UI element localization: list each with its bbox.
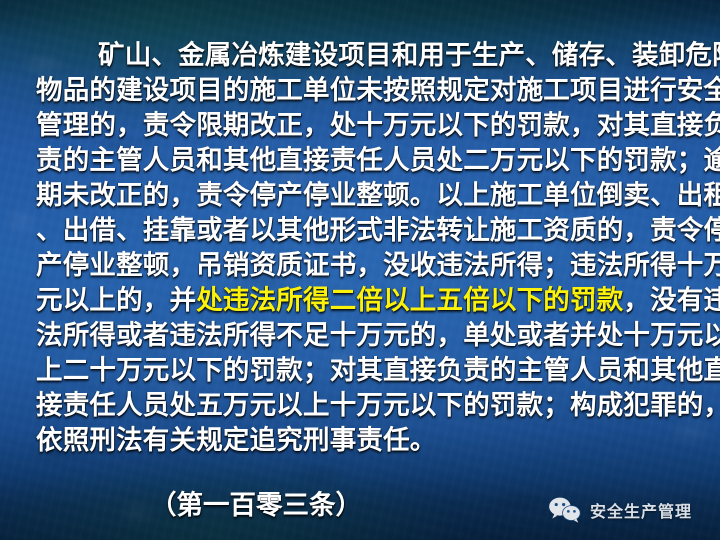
text-run: 接责任人员处五万元以上十万元以下的罚款；构成犯罪的，: [36, 390, 720, 421]
wechat-icon: [548, 496, 582, 524]
text-run: 法所得或者违法所得不足十万元的，单处或者并处十万元以: [36, 320, 720, 351]
text-line: 元以上的，并处违法所得二倍以上五倍以下的罚款，没有违: [36, 283, 684, 318]
text-line: 法所得或者违法所得不足十万元的，单处或者并处十万元以: [36, 318, 684, 353]
text-line: 、出借、挂靠或者以其他形式非法转让施工资质的，责令停: [36, 213, 684, 248]
text-line: 接责任人员处五万元以上十万元以下的罚款；构成犯罪的，: [36, 388, 684, 423]
text-run: 管理的，责令限期改正，处十万元以下的罚款，对其直接负: [36, 110, 720, 141]
text-line: 依照刑法有关规定追究刑事责任。: [36, 423, 684, 458]
text-run: ，没有违: [623, 285, 720, 316]
text-run: 物品的建设项目的施工单位未按照规定对施工项目进行安全: [36, 75, 720, 106]
body-text-block: 矿山、金属冶炼建设项目和用于生产、储存、装卸危险物品的建设项目的施工单位未按照规…: [36, 38, 684, 458]
text-run: 责的主管人员和其他直接责任人员处二万元以下的罚款；逾: [36, 145, 720, 176]
text-line: 管理的，责令限期改正，处十万元以下的罚款，对其直接负: [36, 108, 684, 143]
text-run: 、出借、挂靠或者以其他形式非法转让施工资质的，责令停: [36, 215, 720, 246]
text-run: 元以上的，并: [36, 285, 196, 316]
text-run: 矿山、金属冶炼建设项目和用于生产、储存、装卸危险: [98, 40, 720, 71]
watermark-label: 安全生产管理: [590, 498, 692, 522]
highlighted-phrase: 处违法所得二倍以上五倍以下的罚款: [196, 285, 623, 316]
article-citation: （第一百零三条）: [150, 483, 362, 522]
text-line: 上二十万元以下的罚款；对其直接负责的主管人员和其他直: [36, 353, 684, 388]
text-line: 责的主管人员和其他直接责任人员处二万元以下的罚款；逾: [36, 143, 684, 178]
text-run: 期未改正的，责令停产停业整顿。以上施工单位倒卖、出租: [36, 180, 720, 211]
slide-canvas: 矿山、金属冶炼建设项目和用于生产、储存、装卸危险物品的建设项目的施工单位未按照规…: [0, 0, 720, 540]
text-line: 矿山、金属冶炼建设项目和用于生产、储存、装卸危险: [36, 38, 684, 73]
text-run: 依照刑法有关规定追究刑事责任。: [36, 425, 437, 456]
text-line: 物品的建设项目的施工单位未按照规定对施工项目进行安全: [36, 73, 684, 108]
watermark: 安全生产管理: [548, 496, 692, 524]
text-run: 上二十万元以下的罚款；对其直接负责的主管人员和其他直: [36, 355, 720, 386]
text-line: 期未改正的，责令停产停业整顿。以上施工单位倒卖、出租: [36, 178, 684, 213]
text-run: 产停业整顿，吊销资质证书，没收违法所得；违法所得十万: [36, 250, 720, 281]
text-line: 产停业整顿，吊销资质证书，没收违法所得；违法所得十万: [36, 248, 684, 283]
